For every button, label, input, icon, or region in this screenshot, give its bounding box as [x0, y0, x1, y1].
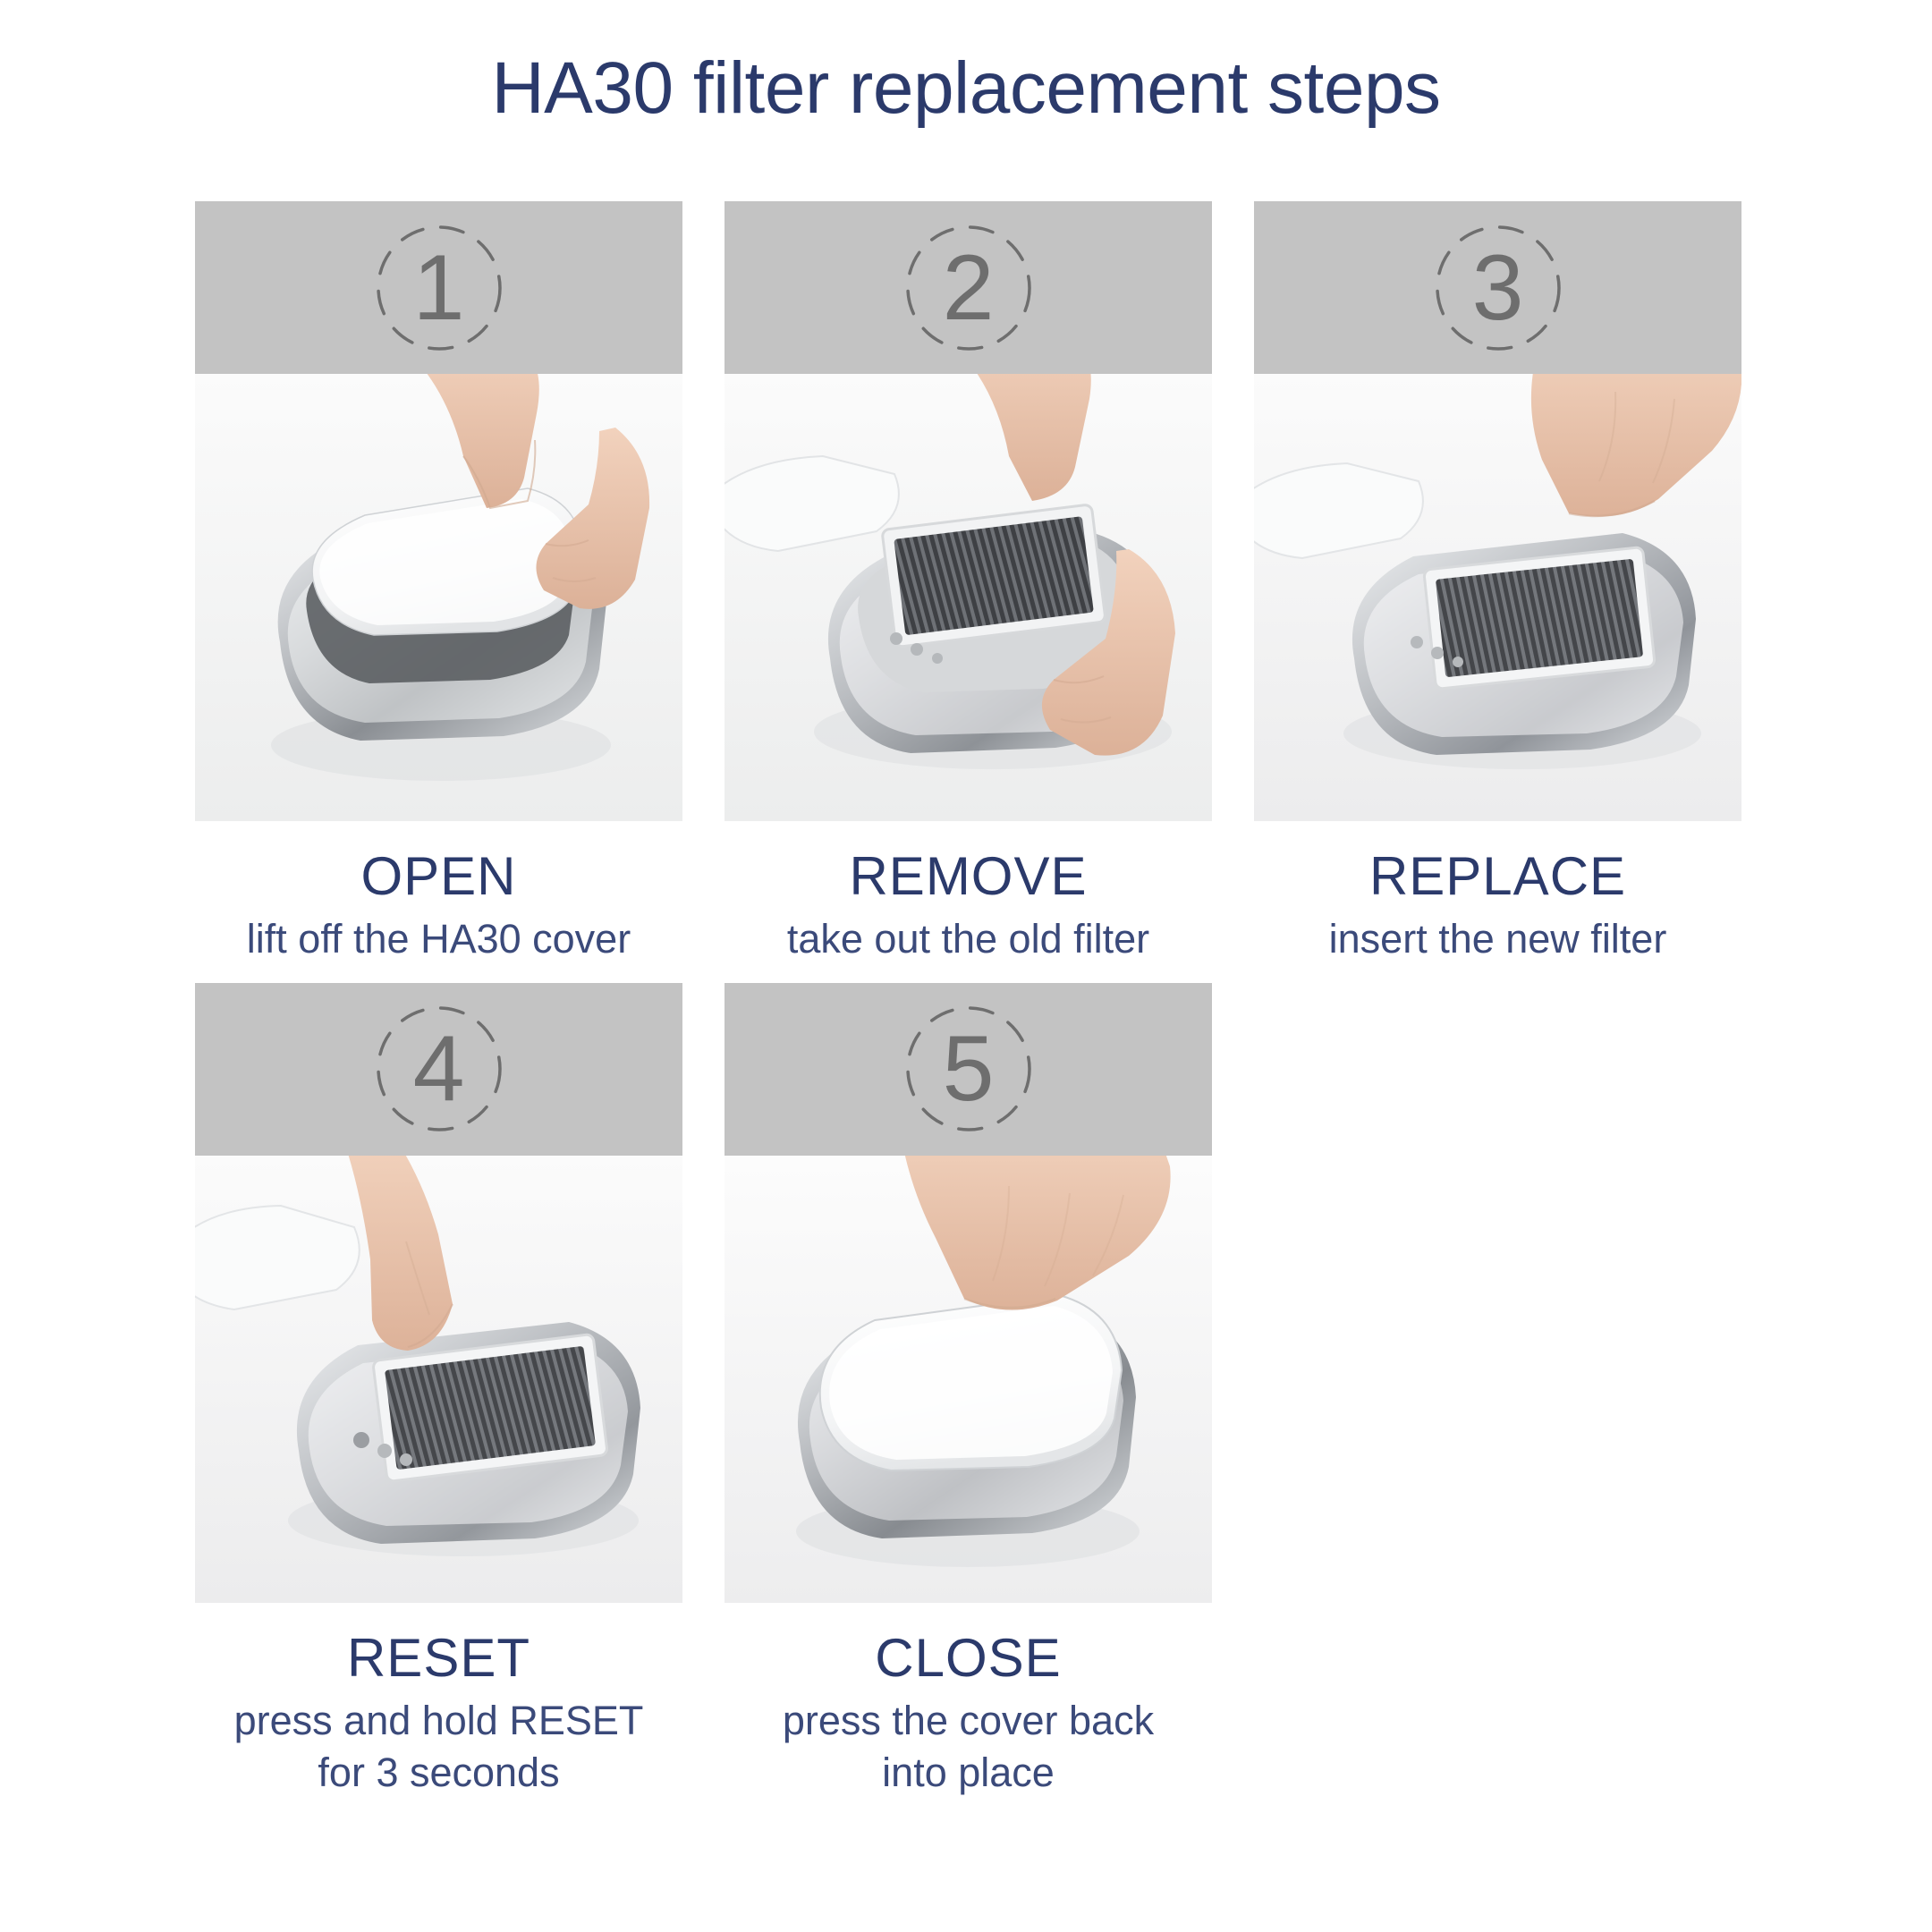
step-number-3: 3 [1472, 241, 1524, 335]
step-heading-2: REMOVE [724, 846, 1212, 906]
step-photo-5 [724, 1156, 1212, 1603]
step-description-1: lift off the HA30 cover [195, 913, 682, 965]
step-number-2: 2 [943, 241, 995, 335]
step-heading-1: OPEN [195, 846, 682, 906]
step-number-5: 5 [943, 1022, 995, 1115]
step-description-5: press the cover back into place [724, 1695, 1212, 1798]
step-number-4: 4 [413, 1022, 465, 1115]
step-card-1: 1 [195, 201, 682, 965]
step-badge-3: 3 [1431, 221, 1565, 355]
step-number-band-1: 1 [195, 201, 682, 374]
step-description-3: insert the new filter [1254, 913, 1741, 965]
step-badge-5: 5 [902, 1002, 1036, 1136]
step-heading-3: REPLACE [1254, 846, 1741, 906]
step-card-4: 4 [195, 983, 682, 1798]
step-number-1: 1 [413, 241, 465, 335]
page-title: HA30 filter replacement steps [0, 47, 1932, 131]
step-photo-4 [195, 1156, 682, 1603]
step-photo-2 [724, 374, 1212, 821]
step-description-2: take out the old filter [724, 913, 1212, 965]
step-heading-5: CLOSE [724, 1628, 1212, 1688]
step-photo-3 [1254, 374, 1741, 821]
step-caption-5: CLOSE press the cover back into place [724, 1603, 1212, 1798]
step-card-2: 2 [724, 201, 1212, 965]
step-card-5: 5 [724, 983, 1212, 1798]
step-card-3: 3 [1254, 201, 1741, 965]
step-caption-4: RESET press and hold RESET for 3 seconds [195, 1603, 682, 1798]
step-description-4: press and hold RESET for 3 seconds [195, 1695, 682, 1798]
step-number-band-3: 3 [1254, 201, 1741, 374]
step-caption-1: OPEN lift off the HA30 cover [195, 821, 682, 965]
step-number-band-2: 2 [724, 201, 1212, 374]
step-badge-4: 4 [372, 1002, 506, 1136]
infographic-page: HA30 filter replacement steps 1 [0, 0, 1932, 1932]
step-photo-1 [195, 374, 682, 821]
step-heading-4: RESET [195, 1628, 682, 1688]
steps-grid: 1 [195, 201, 1742, 1798]
step-badge-1: 1 [372, 221, 506, 355]
step-badge-2: 2 [902, 221, 1036, 355]
step-number-band-4: 4 [195, 983, 682, 1156]
step-number-band-5: 5 [724, 983, 1212, 1156]
step-caption-3: REPLACE insert the new filter [1254, 821, 1741, 965]
step-caption-2: REMOVE take out the old filter [724, 821, 1212, 965]
